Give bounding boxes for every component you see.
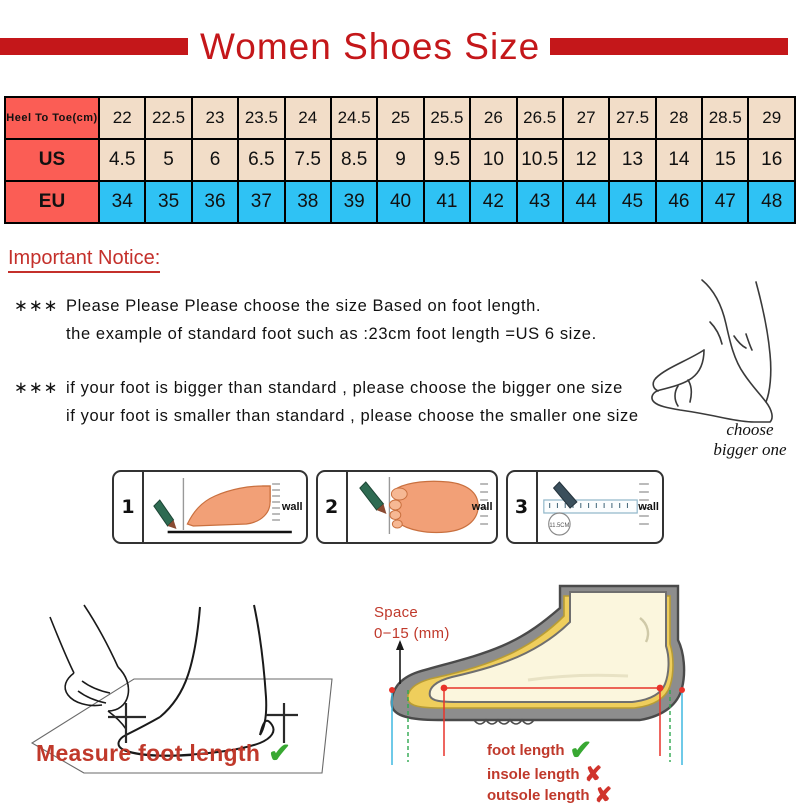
notice-line: if your foot is smaller than standard , … <box>14 402 674 430</box>
notice-paragraph-1: ∗∗∗Please Please Please choose the size … <box>14 292 674 348</box>
cell-us-6: 9 <box>377 139 423 181</box>
important-notice-heading: Important Notice: <box>8 246 160 273</box>
cell-eu-11: 45 <box>609 181 655 223</box>
cell-us-1: 5 <box>145 139 191 181</box>
step-panel-3: 3 11.5CM <box>506 470 664 544</box>
notice-text: if your foot is smaller than standard , … <box>66 407 639 425</box>
cell-cm-3: 23.5 <box>238 97 284 139</box>
cell-eu-4: 38 <box>285 181 331 223</box>
row-label-eu: EU <box>5 181 99 223</box>
cell-eu-5: 39 <box>331 181 377 223</box>
legend-label: insole length <box>487 765 580 784</box>
notice-text: the example of standard foot such as :23… <box>66 325 597 343</box>
notice-text: Please Please Please choose the size Bas… <box>66 297 541 315</box>
cell-cm-10: 27 <box>563 97 609 139</box>
caption-line-1: choose <box>690 420 800 440</box>
cross-icon: ✘ <box>585 764 603 785</box>
cell-eu-3: 37 <box>238 181 284 223</box>
cell-eu-6: 40 <box>377 181 423 223</box>
cell-eu-12: 46 <box>656 181 702 223</box>
cell-cm-0: 22 <box>99 97 145 139</box>
cell-eu-7: 41 <box>424 181 470 223</box>
cell-us-7: 9.5 <box>424 139 470 181</box>
title-rule-right <box>550 38 788 55</box>
step-number-3: 3 <box>508 472 538 542</box>
legend-item-foot-length: foot length ✔ <box>487 737 612 764</box>
cell-cm-14: 29 <box>748 97 795 139</box>
cell-cm-9: 26.5 <box>517 97 563 139</box>
size-conversion-table: Heel To Toe(cm) 22 22.5 23 23.5 24 24.5 … <box>4 96 796 224</box>
step-panel-1: 1 wall <box>112 470 308 544</box>
step-1-illustration: wall <box>144 472 306 542</box>
cell-eu-1: 35 <box>145 181 191 223</box>
legend-label: foot length <box>487 741 564 760</box>
legend-label: outsole length <box>487 786 590 805</box>
space-label-line-2: 0−15 (mm) <box>374 623 450 644</box>
wall-label-1: wall <box>282 501 303 513</box>
page-title: Women Shoes Size <box>188 28 550 65</box>
table-row-cm: Heel To Toe(cm) 22 22.5 23 23.5 24 24.5 … <box>5 97 795 139</box>
cell-us-10: 12 <box>563 139 609 181</box>
cell-us-13: 15 <box>702 139 748 181</box>
cell-us-4: 7.5 <box>285 139 331 181</box>
step-3-illustration: 11.5CM wall <box>538 472 662 542</box>
row-label-cm: Heel To Toe(cm) <box>5 97 99 139</box>
notice-line: the example of standard foot such as :23… <box>14 320 674 348</box>
shoe-measurement-legend: foot length ✔ insole length ✘ outsole le… <box>487 737 612 806</box>
bullet-marker: ∗∗∗ <box>14 374 66 402</box>
table-row-us: US 4.5 5 6 6.5 7.5 8.5 9 9.5 10 10.5 12 … <box>5 139 795 181</box>
row-label-us: US <box>5 139 99 181</box>
cell-eu-0: 34 <box>99 181 145 223</box>
cell-us-14: 16 <box>748 139 795 181</box>
cell-us-8: 10 <box>470 139 516 181</box>
cell-cm-5: 24.5 <box>331 97 377 139</box>
cell-cm-4: 24 <box>285 97 331 139</box>
legend-item-insole-length: insole length ✘ <box>487 764 612 785</box>
space-label-line-1: Space <box>374 602 450 623</box>
cross-icon: ✘ <box>595 785 613 806</box>
wall-label-2: wall <box>472 501 493 513</box>
cell-eu-2: 36 <box>192 181 238 223</box>
step-panel-2: 2 <box>316 470 498 544</box>
page-title-row: Women Shoes Size <box>0 22 800 70</box>
ruler-badge-text: 11.5CM <box>549 523 569 529</box>
cell-cm-7: 25.5 <box>424 97 470 139</box>
cell-us-0: 4.5 <box>99 139 145 181</box>
title-rule-left <box>0 38 188 55</box>
cell-us-3: 6.5 <box>238 139 284 181</box>
step-number-2: 2 <box>318 472 348 542</box>
cell-cm-12: 28 <box>656 97 702 139</box>
measure-label-text: Measure foot length <box>36 740 260 767</box>
notice-paragraph-2: ∗∗∗if your foot is bigger than standard … <box>14 374 674 430</box>
cell-eu-14: 48 <box>748 181 795 223</box>
legend-item-outsole-length: outsole length ✘ <box>487 785 612 806</box>
table-row-eu: EU 34 35 36 37 38 39 40 41 42 43 44 45 4… <box>5 181 795 223</box>
cell-eu-9: 43 <box>517 181 563 223</box>
measure-foot-length-label: Measure foot length ✔ <box>36 740 291 767</box>
cell-eu-8: 42 <box>470 181 516 223</box>
cell-cm-13: 28.5 <box>702 97 748 139</box>
choose-bigger-one-caption: choose bigger one <box>690 420 800 460</box>
measuring-steps-strip: 1 wall 2 <box>112 470 664 544</box>
caption-line-2: bigger one <box>690 440 800 460</box>
wall-label-3: wall <box>638 501 659 513</box>
cell-eu-13: 47 <box>702 181 748 223</box>
cell-us-5: 8.5 <box>331 139 377 181</box>
check-icon: ✔ <box>569 737 592 764</box>
notice-line: ∗∗∗if your foot is bigger than standard … <box>14 374 674 402</box>
cell-us-2: 6 <box>192 139 238 181</box>
cell-cm-6: 25 <box>377 97 423 139</box>
cell-cm-8: 26 <box>470 97 516 139</box>
space-gap-label: Space 0−15 (mm) <box>374 602 450 644</box>
cell-eu-10: 44 <box>563 181 609 223</box>
cell-cm-11: 27.5 <box>609 97 655 139</box>
cell-us-9: 10.5 <box>517 139 563 181</box>
step-2-illustration: wall <box>348 472 496 542</box>
cell-us-11: 13 <box>609 139 655 181</box>
bullet-marker: ∗∗∗ <box>14 292 66 320</box>
cell-cm-2: 23 <box>192 97 238 139</box>
cell-us-12: 14 <box>656 139 702 181</box>
notice-line: ∗∗∗Please Please Please choose the size … <box>14 292 674 320</box>
step-number-1: 1 <box>114 472 144 542</box>
cell-cm-1: 22.5 <box>145 97 191 139</box>
notice-text: if your foot is bigger than standard , p… <box>66 379 623 397</box>
check-icon: ✔ <box>268 740 291 767</box>
